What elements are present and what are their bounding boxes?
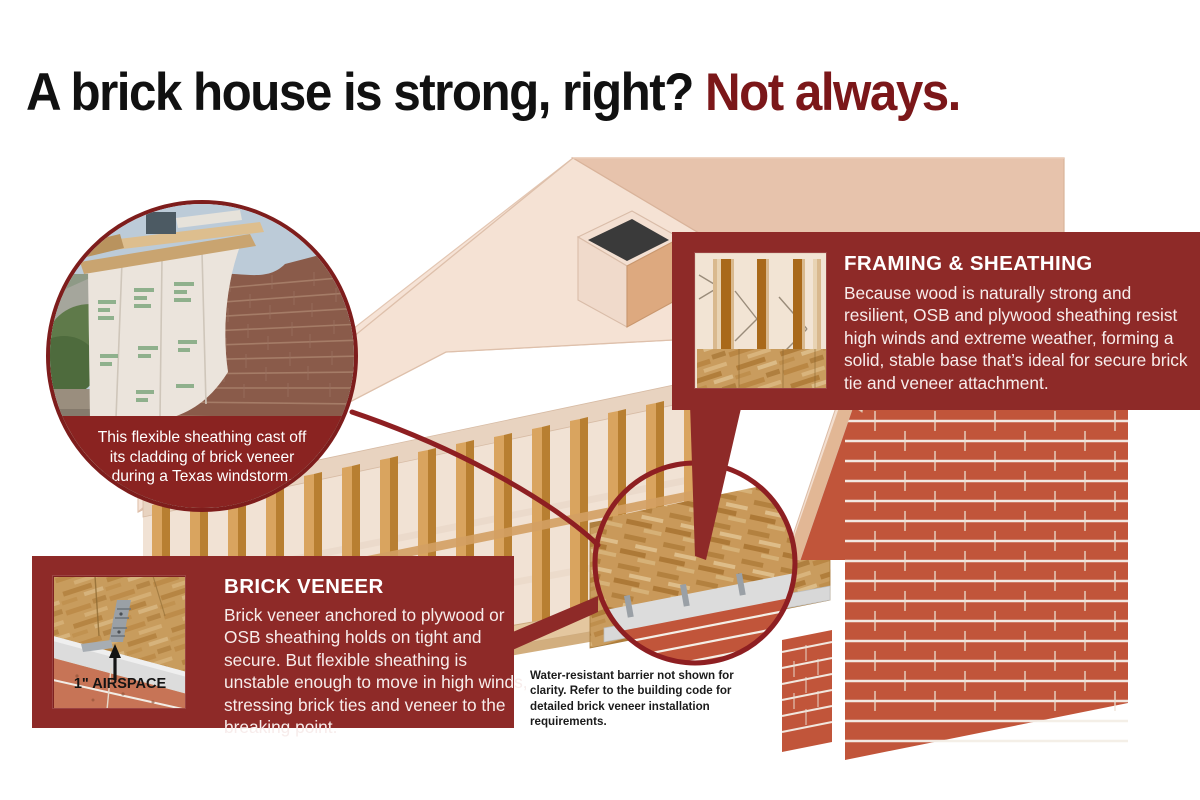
- framing-sheathing-callout[interactable]: FRAMING & SHEATHING Because wood is natu…: [672, 232, 1200, 410]
- footnote-text: Water-resistant barrier not shown for cl…: [530, 668, 762, 730]
- photo-callout: This flexible sheathing cast off its cla…: [46, 200, 358, 512]
- airspace-label: 1" AIRSPACE: [74, 676, 167, 692]
- framing-callout-body: Because wood is naturally strong and res…: [844, 282, 1192, 394]
- brick-veneer-left-wing: [782, 630, 832, 752]
- photo-caption: This flexible sheathing cast off its cla…: [50, 416, 354, 508]
- brick-callout-heading: BRICK VENEER: [224, 575, 384, 599]
- infographic-canvas: A brick house is strong, right? Not alwa…: [0, 0, 1200, 800]
- framing-callout-heading: FRAMING & SHEATHING: [844, 252, 1093, 276]
- brick-callout-body: Brick veneer anchored to plywood or OSB …: [224, 604, 536, 739]
- brick-veneer-callout[interactable]: 1" AIRSPACE BRICK VENEER Brick veneer an…: [32, 556, 514, 728]
- framing-inset-image: [694, 252, 827, 389]
- brick-veneer-inset-image: 1" AIRSPACE: [52, 575, 186, 709]
